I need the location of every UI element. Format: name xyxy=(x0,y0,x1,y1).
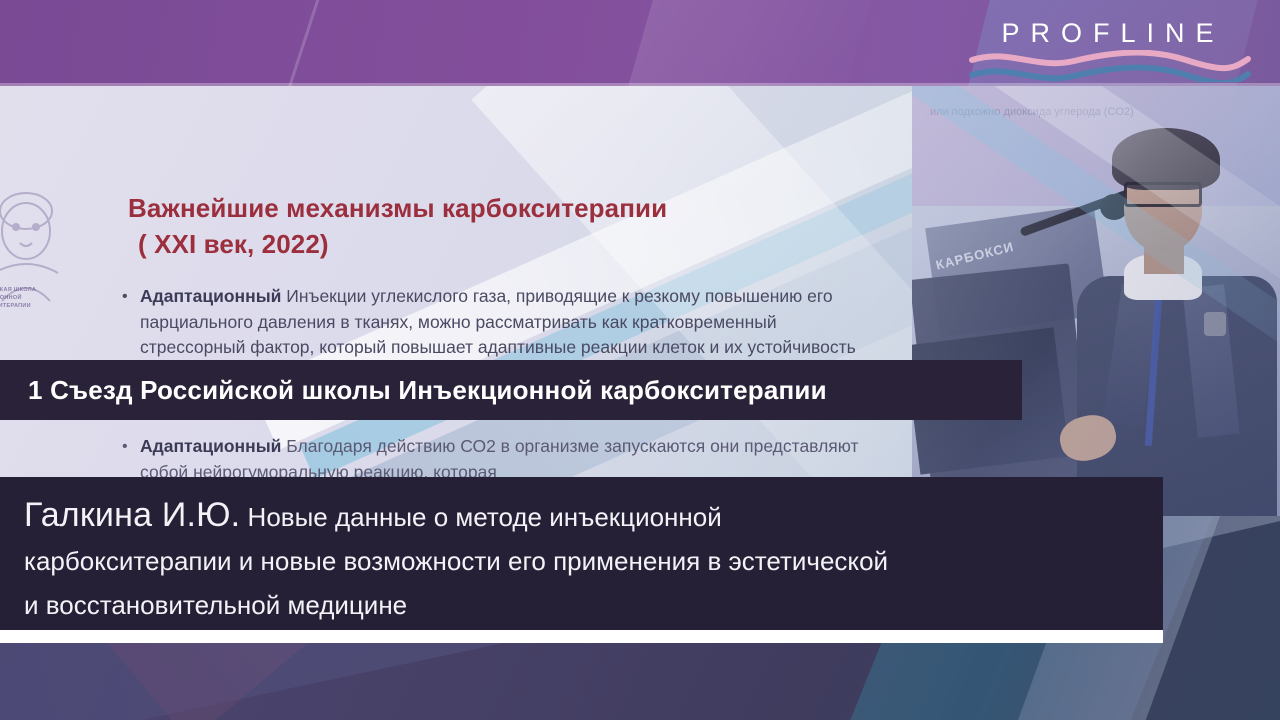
banner-white-strip xyxy=(0,630,1163,643)
profline-logo-text: PROFLINE xyxy=(964,18,1254,48)
logo-wave-icon xyxy=(964,50,1254,82)
slide-title: Важнейшие механизмы карбокситерапии ( XX… xyxy=(128,190,828,262)
video-frame: PROFLINE РОССИЙСКАЯ ШКОЛА ИНЪЕКЦИОННОЙ К… xyxy=(0,0,1280,720)
emblem-caption: РОССИЙСКАЯ ШКОЛА ИНЪЕКЦИОННОЙ КАРБОКСИТЕ… xyxy=(0,286,82,310)
header-sheen-2 xyxy=(617,0,874,86)
speaker-name: Галкина И.Ю. xyxy=(24,496,240,534)
photo-overlay xyxy=(912,86,1280,516)
profline-logo: PROFLINE xyxy=(964,18,1254,82)
presentation-slide: РОССИЙСКАЯ ШКОЛА ИНЪЕКЦИОННОЙ КАРБОКСИТЕ… xyxy=(0,86,912,481)
bullet-marker-icon-2: • xyxy=(122,434,128,460)
speaker-line-1: Галкина И.Ю. Новые данные о методе инъек… xyxy=(0,493,1163,539)
header-sheen-1 xyxy=(275,0,327,86)
bullet-1-lead: Адаптационный xyxy=(140,286,281,306)
talk-title-line-1: Новые данные о методе инъекционной xyxy=(240,502,721,532)
speaker-photo: или подкожно диоксида углерода (CO2) КАР… xyxy=(912,86,1280,516)
slide-bullet-2: • Адаптационный Благодаря действию СО2 в… xyxy=(140,434,880,481)
slide-title-line-2: ( XXI век, 2022) xyxy=(128,226,828,262)
talk-title-line-3: и восстановительной медицине xyxy=(0,583,1163,627)
event-title-text: 1 Съезд Российской школы Инъекционной ка… xyxy=(0,375,827,406)
bullet-marker-icon: • xyxy=(122,284,128,310)
bullet-2-lead: Адаптационный xyxy=(140,436,281,456)
talk-title-line-2: карбокситерапии и новые возможности его … xyxy=(0,539,1163,583)
event-title-banner: 1 Съезд Российской школы Инъекционной ка… xyxy=(0,360,1022,420)
slide-title-line-1: Важнейшие механизмы карбокситерапии xyxy=(128,193,667,223)
speaker-info-banner: Галкина И.Ю. Новые данные о методе инъек… xyxy=(0,477,1163,643)
